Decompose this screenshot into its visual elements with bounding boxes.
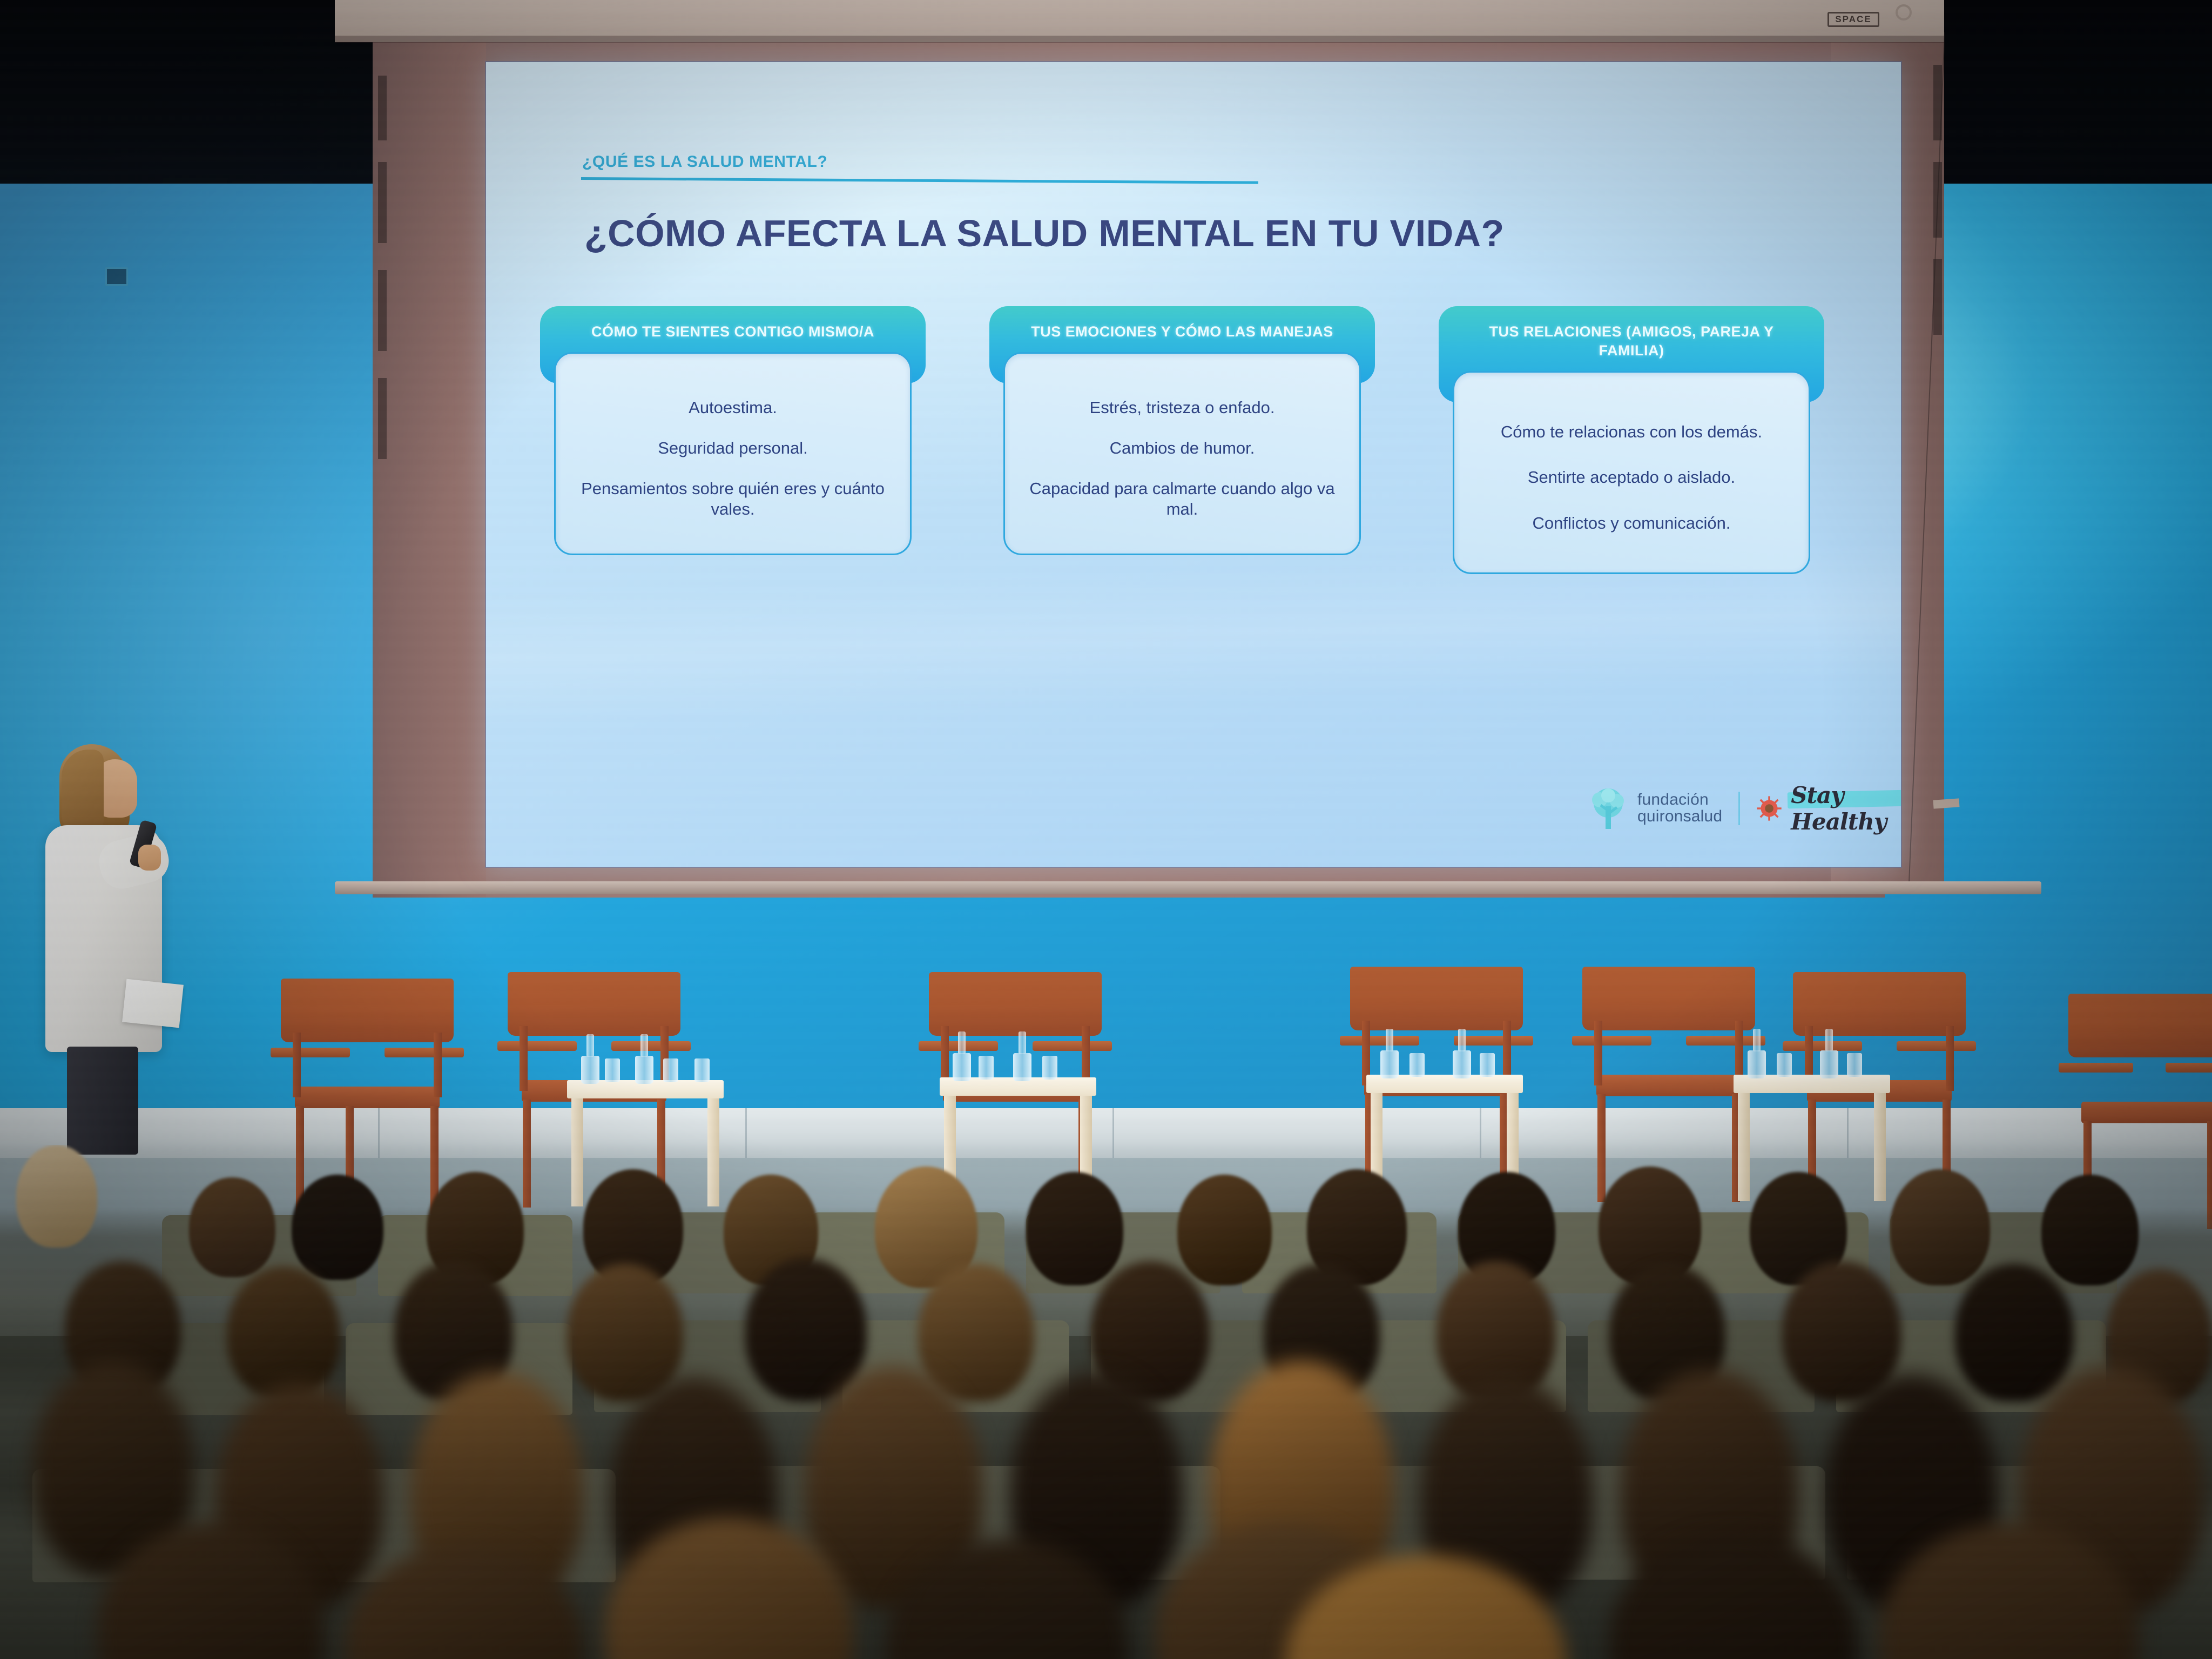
chair-back bbox=[929, 972, 1102, 1036]
audience-head bbox=[227, 1266, 340, 1399]
water-glass bbox=[694, 1058, 710, 1082]
card-line: Sentirte aceptado o aislado. bbox=[1471, 467, 1792, 488]
water-glass bbox=[1480, 1053, 1495, 1077]
water-glass bbox=[979, 1056, 994, 1080]
chair-armrest bbox=[271, 1048, 350, 1057]
slide-eyebrow-rule bbox=[581, 177, 1258, 184]
audience-head bbox=[2041, 1175, 2139, 1285]
flower-icon bbox=[1756, 790, 1782, 827]
chair-back bbox=[281, 979, 454, 1042]
chair-back bbox=[1582, 967, 1755, 1030]
wall-slat bbox=[378, 76, 387, 140]
speaker-hair-front bbox=[62, 750, 104, 836]
quironsalud-logo: fundación quironsalud bbox=[1588, 787, 1722, 830]
slide-logos: fundación quironsalud Sta bbox=[1588, 782, 1901, 835]
slide-eyebrow: ¿QUÉ ES LA SALUD MENTAL? bbox=[582, 153, 827, 171]
slide-card: TUS RELACIONES (AMIGOS, PAREJA Y FAMILIA… bbox=[1439, 306, 1824, 609]
projector-case-badge: SPACE bbox=[1827, 12, 1879, 27]
quironsalud-wordmark: fundación quironsalud bbox=[1637, 792, 1722, 825]
quironsalud-line2: quironsalud bbox=[1637, 808, 1722, 825]
chair-back bbox=[1793, 972, 1966, 1036]
chair-post bbox=[434, 1033, 442, 1097]
chair-armrest bbox=[1572, 1036, 1651, 1046]
chair-post bbox=[520, 1026, 528, 1091]
card-line: Pensamientos sobre quién eres y cuánto v… bbox=[572, 478, 894, 520]
chair-post bbox=[1594, 1021, 1602, 1085]
wall-fixture bbox=[105, 267, 128, 286]
card-line: Cambios de humor. bbox=[1021, 438, 1343, 458]
chair-post bbox=[293, 1033, 301, 1097]
card-line: Autoestima. bbox=[572, 397, 894, 418]
wall-slat bbox=[378, 270, 387, 351]
chair-armrest bbox=[1783, 1041, 1862, 1051]
audience-head bbox=[1890, 1169, 1990, 1285]
card-line: Cómo te relacionas con los demás. bbox=[1471, 422, 1792, 442]
chair-armrest bbox=[385, 1048, 464, 1057]
chair-armrest bbox=[2166, 1063, 2212, 1073]
audience-head bbox=[16, 1145, 97, 1247]
logo-divider bbox=[1738, 792, 1740, 825]
audience bbox=[0, 1145, 2212, 1659]
chair-back bbox=[2068, 994, 2212, 1057]
chair-armrest bbox=[497, 1041, 577, 1051]
audience-head bbox=[1026, 1172, 1123, 1285]
card-body: Cómo te relacionas con los demás. Sentir… bbox=[1453, 371, 1810, 574]
chair-back bbox=[508, 972, 680, 1036]
stay-healthy-text: Stay Healthy bbox=[1791, 782, 1901, 835]
chair-armrest bbox=[1033, 1041, 1112, 1051]
slide-card: TUS EMOCIONES Y CÓMO LAS MANEJAS Estrés,… bbox=[989, 306, 1375, 609]
water-glass bbox=[663, 1058, 678, 1082]
chair-armrest bbox=[2059, 1063, 2133, 1073]
chair-back bbox=[1350, 967, 1523, 1030]
audience-head bbox=[189, 1177, 275, 1277]
quironsalud-line1: fundación bbox=[1637, 792, 1722, 808]
card-line: Capacidad para calmarte cuando algo va m… bbox=[1021, 478, 1343, 520]
speaker-hand bbox=[138, 845, 161, 871]
water-glass bbox=[1042, 1056, 1057, 1080]
card-line: Conflictos y comunicación. bbox=[1471, 513, 1792, 534]
speaker-papers bbox=[122, 979, 184, 1028]
water-glass bbox=[1777, 1053, 1792, 1077]
screen-surround-left bbox=[373, 39, 486, 898]
chair-armrest bbox=[1454, 1036, 1533, 1046]
tree-icon bbox=[1588, 787, 1629, 830]
projector-screen-bottom-bar bbox=[335, 881, 2041, 894]
audience-head bbox=[567, 1264, 683, 1401]
slide-title: ¿CÓMO AFECTA LA SALUD MENTAL EN TU VIDA? bbox=[584, 214, 1826, 252]
case-shadow bbox=[335, 36, 1944, 43]
card-body: Estrés, tristeza o enfado. Cambios de hu… bbox=[1003, 352, 1361, 555]
chair-armrest bbox=[1897, 1041, 1976, 1051]
chair-armrest bbox=[1340, 1036, 1419, 1046]
speaker bbox=[43, 744, 173, 1149]
chair-armrest bbox=[611, 1041, 691, 1051]
screen-pull-knob bbox=[1896, 4, 1912, 21]
slide-cards: CÓMO TE SIENTES CONTIGO MISMO/A Autoesti… bbox=[540, 306, 1852, 609]
audience-head bbox=[745, 1258, 867, 1401]
wall-slat bbox=[378, 378, 387, 459]
wall-slat bbox=[378, 162, 387, 243]
card-line: Seguridad personal. bbox=[572, 438, 894, 458]
card-body: Autoestima. Seguridad personal. Pensamie… bbox=[554, 352, 912, 555]
card-line: Estrés, tristeza o enfado. bbox=[1021, 397, 1343, 418]
audience-head bbox=[1177, 1175, 1272, 1285]
chair-seat bbox=[1596, 1075, 1742, 1096]
slide-card: CÓMO TE SIENTES CONTIGO MISMO/A Autoesti… bbox=[540, 306, 926, 609]
screen-tension-tab bbox=[1933, 798, 1960, 808]
audience-head bbox=[1955, 1264, 2074, 1401]
auditorium-scene: SPACE ¿QUÉ ES LA SALUD MENTAL? ¿CÓMO AFE… bbox=[0, 0, 2212, 1659]
audience-head bbox=[292, 1175, 383, 1280]
speaker-trousers bbox=[67, 1047, 138, 1155]
chair-post bbox=[1946, 1026, 1954, 1091]
chair-seat bbox=[295, 1087, 440, 1108]
water-glass bbox=[1847, 1053, 1862, 1077]
stay-healthy-logo: Stay Healthy bbox=[1756, 782, 1901, 835]
projected-slide: ¿QUÉ ES LA SALUD MENTAL? ¿CÓMO AFECTA LA… bbox=[486, 62, 1901, 867]
stay-healthy-wordmark: Stay Healthy bbox=[1791, 782, 1901, 835]
water-glass bbox=[1410, 1053, 1425, 1077]
water-glass bbox=[605, 1058, 620, 1082]
chair-seat bbox=[2081, 1102, 2212, 1123]
